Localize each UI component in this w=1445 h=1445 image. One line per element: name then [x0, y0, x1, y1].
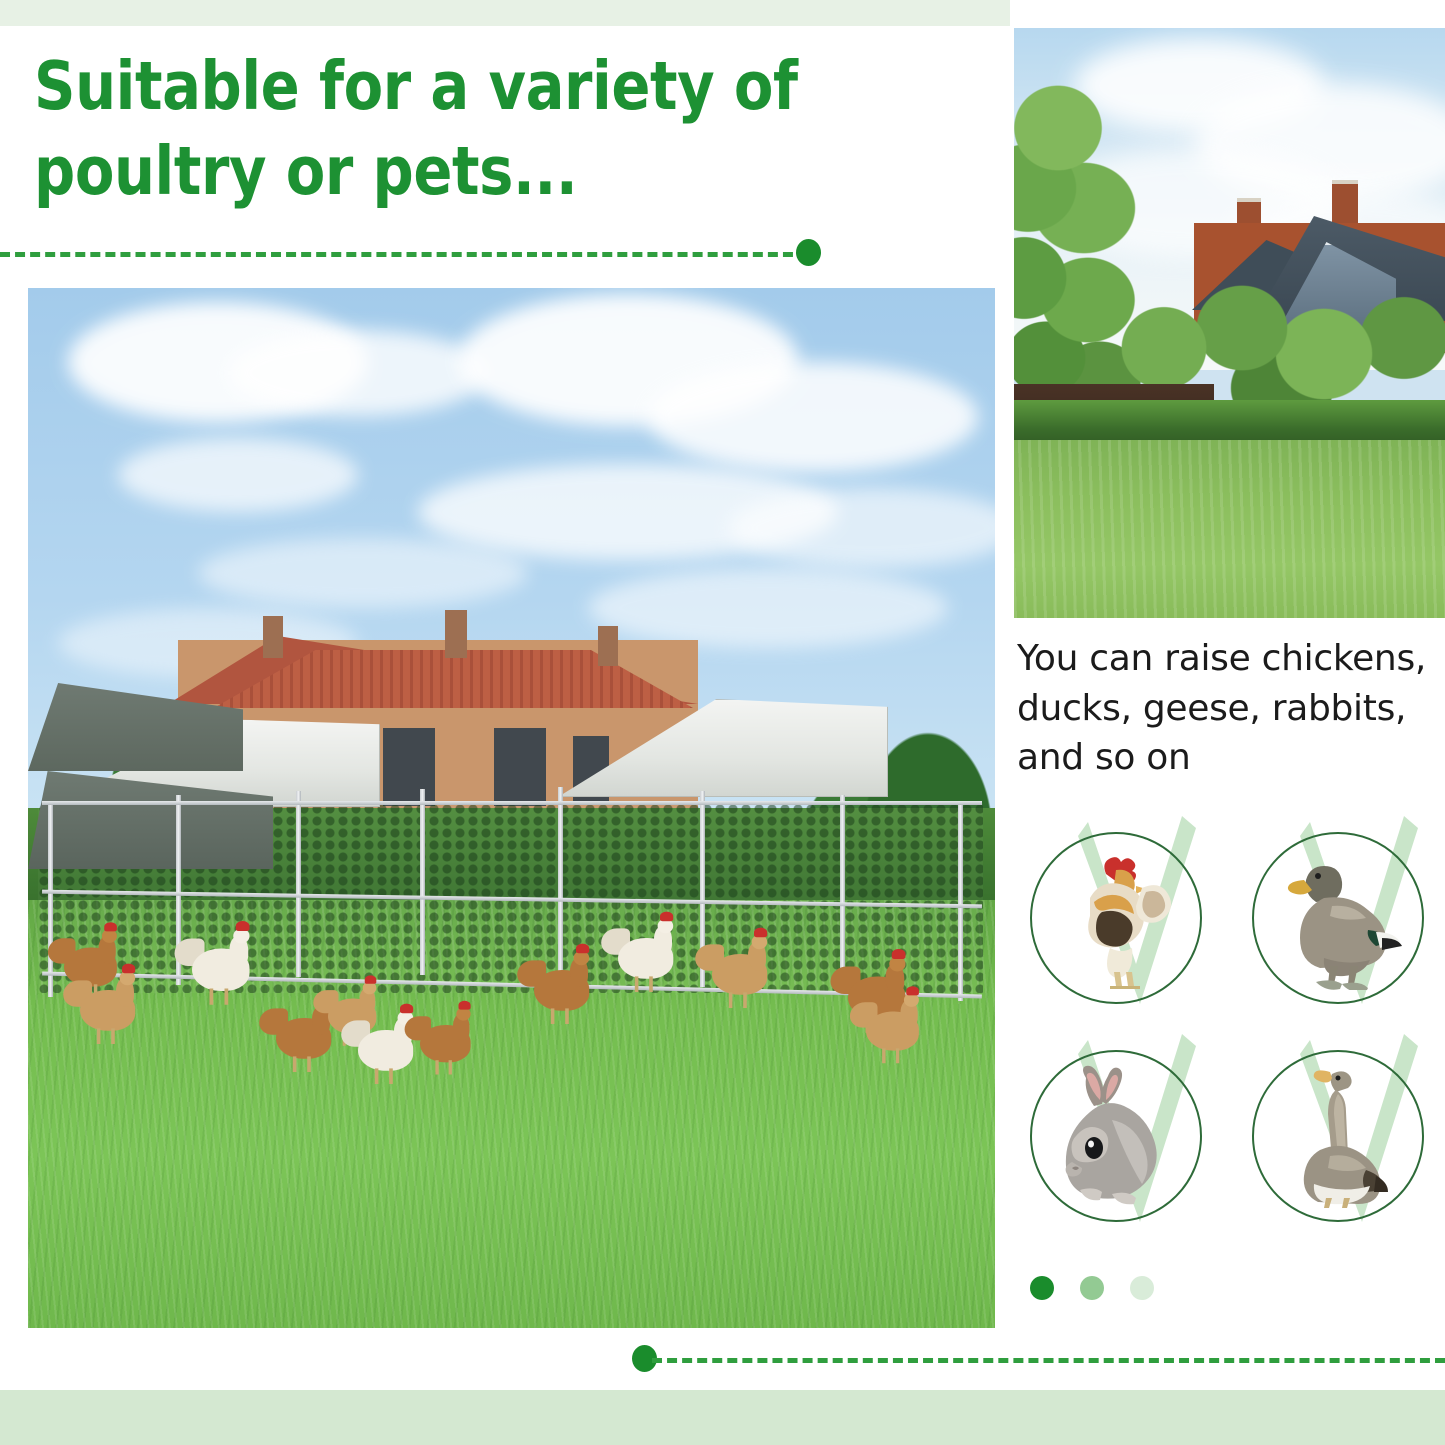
cloud [648, 362, 978, 472]
top-accent-band [0, 0, 1010, 26]
cloud [118, 438, 358, 512]
animal-icon-goose[interactable] [1252, 1050, 1424, 1222]
bottom-accent-band [0, 1390, 1445, 1445]
carousel-dot-0[interactable] [1030, 1276, 1054, 1300]
frame-post [558, 787, 563, 977]
cloud [198, 538, 528, 608]
canopy-roof-left-shade [28, 683, 243, 771]
foreground-tree [1014, 68, 1168, 398]
frame-post [296, 791, 301, 977]
carousel-indicator[interactable] [1030, 1276, 1154, 1300]
frame-rail [42, 801, 982, 805]
lawn [1014, 440, 1445, 618]
animal-icon-chicken[interactable] [1030, 832, 1202, 1004]
animal-icon-duck[interactable] [1252, 832, 1424, 1004]
product-feature-slide: Suitable for a variety of poultry or pet… [0, 0, 1445, 1445]
frame-post [958, 801, 963, 1001]
canopy-roof-right [558, 699, 888, 797]
frame-post [48, 801, 53, 997]
backyard-lawn-photo [1014, 28, 1445, 618]
goose-icon [1272, 1064, 1404, 1208]
chimney [445, 610, 467, 658]
page-title: Suitable for a variety of poultry or pet… [34, 44, 834, 214]
suitable-animals-grid [1030, 832, 1430, 1232]
animal-icon-rabbit[interactable] [1030, 1050, 1202, 1222]
chimney [598, 626, 618, 666]
rabbit-icon [1050, 1064, 1182, 1208]
chicken-coop-structure [28, 683, 995, 1003]
duck-icon [1272, 846, 1404, 990]
top-divider-dot [796, 239, 821, 266]
chimney [263, 616, 283, 658]
feature-description: You can raise chickens, ducks, geese, ra… [1017, 634, 1427, 783]
bottom-divider-line [652, 1358, 1445, 1363]
cloud [228, 330, 488, 416]
carousel-dot-1[interactable] [1080, 1276, 1104, 1300]
chicken-icon [1050, 846, 1182, 990]
main-product-photo [28, 288, 995, 1328]
carousel-dot-2[interactable] [1130, 1276, 1154, 1300]
top-divider-line [0, 252, 808, 257]
frame-post [840, 795, 845, 995]
frame-post [420, 789, 425, 975]
